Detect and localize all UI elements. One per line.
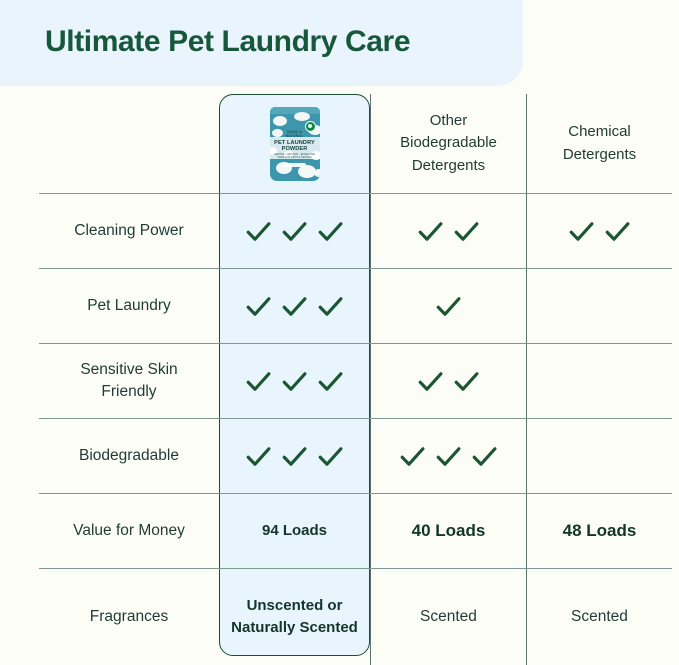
table-row: Biodegradable: [39, 419, 672, 494]
check-icon: [452, 367, 481, 396]
column-header-chemical: Chemical Detergents: [526, 94, 672, 193]
cell-product: 94 Loads: [219, 494, 370, 568]
row-label: Value for Money: [59, 520, 199, 542]
column-header-product: GOOD &NATURALPET LAUNDRYPOWDERGENTLE · N…: [219, 94, 370, 193]
check-icon: [603, 217, 632, 246]
cell-chemical: [526, 344, 672, 418]
table-header-row: GOOD &NATURALPET LAUNDRYPOWDERGENTLE · N…: [39, 94, 672, 194]
row-label-cell: Sensitive Skin Friendly: [39, 344, 219, 418]
rating-checks: [244, 217, 345, 246]
comparison-table: GOOD &NATURALPET LAUNDRYPOWDERGENTLE · N…: [0, 0, 679, 665]
column-header-label: Other Biodegradable Detergents: [371, 110, 526, 178]
check-icon: [244, 442, 273, 471]
check-icon: [316, 442, 345, 471]
check-icon: [398, 442, 427, 471]
row-label: Sensitive Skin Friendly: [39, 359, 219, 404]
cell-product: [219, 344, 370, 418]
check-icon: [244, 367, 273, 396]
pouch-bottom-pill: [284, 163, 306, 167]
table-row: Sensitive Skin Friendly: [39, 344, 672, 419]
cell-chemical: Scented: [526, 569, 672, 665]
row-label-cell: Pet Laundry: [39, 269, 219, 343]
row-label-cell: Fragrances: [39, 569, 219, 665]
pouch-pattern-blob: [314, 169, 320, 177]
table-row: Cleaning Power: [39, 194, 672, 269]
check-icon: [280, 292, 309, 321]
rating-checks: [434, 292, 463, 321]
cell-value: Unscented or Naturally Scented: [219, 595, 370, 639]
pouch-pattern-blob: [294, 112, 310, 121]
table-row: FragrancesUnscented or Naturally Scented…: [39, 569, 672, 665]
pouch-subtext: GENTLE · NATURAL · EFFECTIVESAFE FOR PET…: [270, 153, 320, 160]
rating-checks: [567, 217, 632, 246]
check-icon: [244, 292, 273, 321]
rating-checks: [416, 217, 481, 246]
check-icon: [452, 217, 481, 246]
row-label-cell: Biodegradable: [39, 419, 219, 493]
eco-badge-icon: [305, 121, 316, 132]
pouch-pattern-blob: [273, 116, 287, 126]
cell-value: 40 Loads: [401, 519, 497, 544]
row-label: Fragrances: [76, 606, 182, 628]
check-icon: [316, 292, 345, 321]
table-row: Value for Money94 Loads40 Loads48 Loads: [39, 494, 672, 569]
cell-product: [219, 419, 370, 493]
check-icon: [416, 217, 445, 246]
rating-checks: [244, 367, 345, 396]
check-icon: [244, 217, 273, 246]
comparison-page: Ultimate Pet Laundry Care GOOD &NATURALP…: [0, 0, 679, 665]
cell-value: Scented: [560, 606, 639, 628]
cell-other-biodegradable: [370, 194, 526, 268]
row-label: Cleaning Power: [60, 220, 197, 242]
column-header-other-biodegradable: Other Biodegradable Detergents: [370, 94, 526, 193]
row-label: Pet Laundry: [73, 295, 185, 317]
row-label-cell: Value for Money: [39, 494, 219, 568]
check-icon: [416, 367, 445, 396]
check-icon: [434, 442, 463, 471]
row-label: Biodegradable: [65, 445, 193, 467]
cell-product: Unscented or Naturally Scented: [219, 569, 370, 665]
check-icon: [316, 367, 345, 396]
check-icon: [567, 217, 596, 246]
cell-value: 48 Loads: [552, 519, 648, 544]
cell-value: Scented: [409, 606, 488, 628]
column-header-label: Chemical Detergents: [527, 121, 672, 166]
check-icon: [280, 217, 309, 246]
check-icon: [280, 367, 309, 396]
row-label-cell: Cleaning Power: [39, 194, 219, 268]
cell-chemical: [526, 419, 672, 493]
rating-checks: [416, 367, 481, 396]
cell-chemical: [526, 194, 672, 268]
table-row: Pet Laundry: [39, 269, 672, 344]
cell-product: [219, 269, 370, 343]
pouch-product-name: PET LAUNDRYPOWDER: [270, 140, 320, 153]
header-cell-empty: [39, 94, 219, 193]
cell-other-biodegradable: [370, 269, 526, 343]
cell-other-biodegradable: [370, 344, 526, 418]
check-icon: [434, 292, 463, 321]
check-icon: [316, 217, 345, 246]
cell-other-biodegradable: Scented: [370, 569, 526, 665]
rating-checks: [398, 442, 499, 471]
cell-chemical: [526, 269, 672, 343]
check-icon: [280, 442, 309, 471]
rating-checks: [244, 442, 345, 471]
check-icon: [470, 442, 499, 471]
pouch-top-seal: [270, 107, 320, 114]
cell-other-biodegradable: [370, 419, 526, 493]
cell-value: 94 Loads: [251, 520, 338, 542]
cell-chemical: 48 Loads: [526, 494, 672, 568]
cell-other-biodegradable: 40 Loads: [370, 494, 526, 568]
product-pouch-image: GOOD &NATURALPET LAUNDRYPOWDERGENTLE · N…: [270, 107, 320, 181]
cell-product: [219, 194, 370, 268]
rating-checks: [244, 292, 345, 321]
